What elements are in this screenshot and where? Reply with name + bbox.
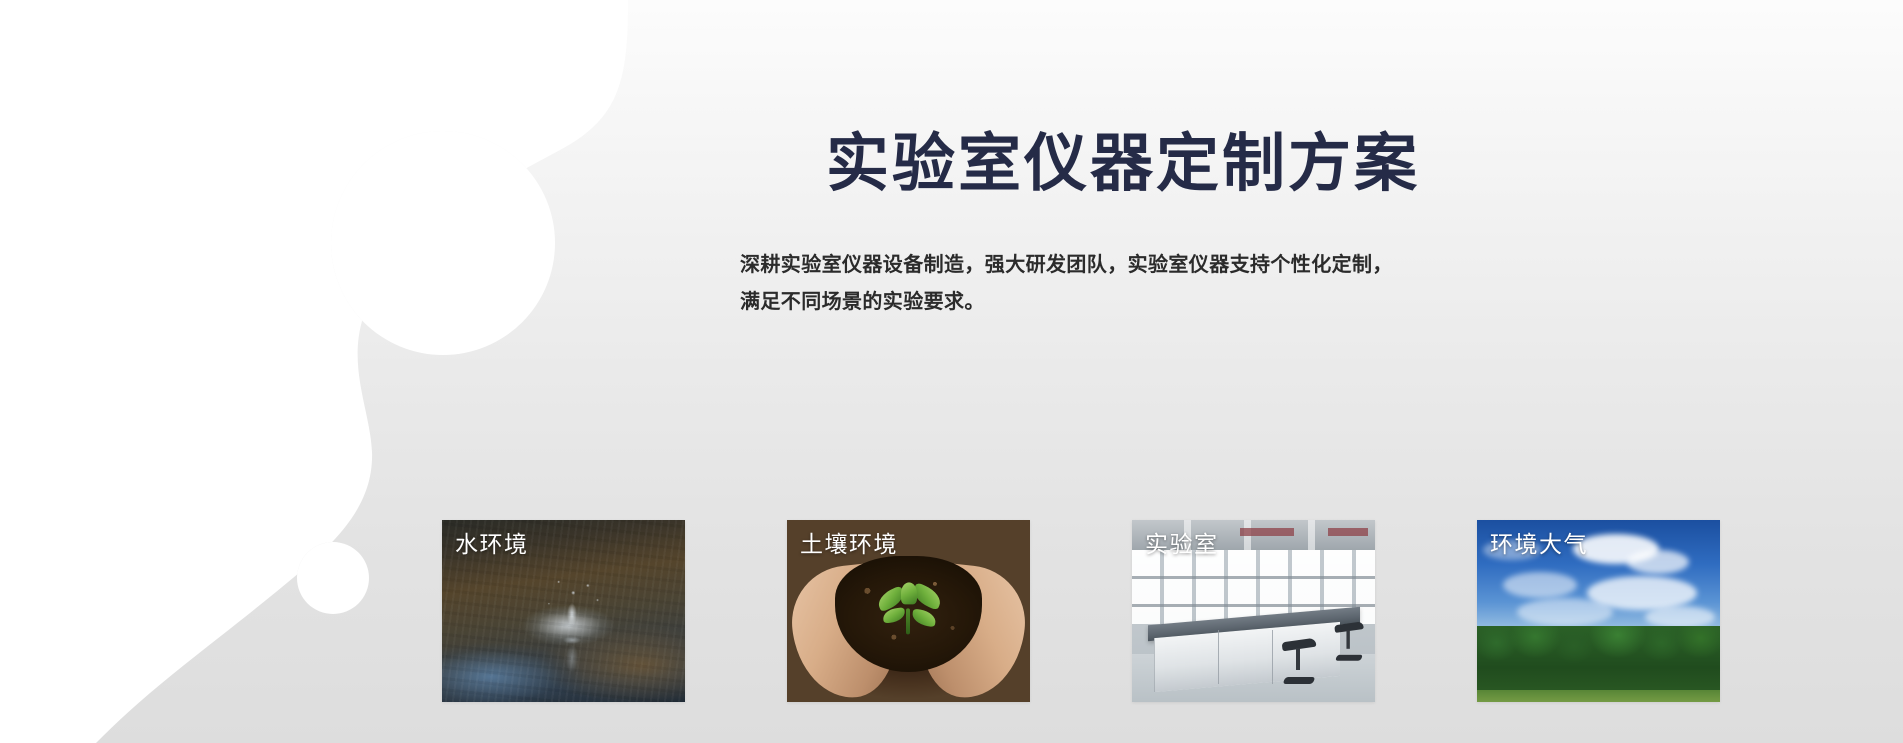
seedling-shape: [876, 583, 942, 639]
lab-bench-seam: [1218, 630, 1219, 684]
category-card-atmosphere[interactable]: 环境大气: [1477, 520, 1720, 702]
lab-red-accent: [1328, 528, 1368, 536]
stool-base: [1335, 655, 1363, 661]
meadow-strip: [1477, 690, 1720, 702]
category-card-label: 土壤环境: [800, 529, 898, 560]
stool-post: [1296, 648, 1300, 670]
subtitle-line-1: 深耕实验室仪器设备制造，强大研发团队，实验室仪器支持个性化定制，: [740, 247, 1540, 284]
seedling-leaf: [901, 583, 917, 605]
lab-bench-seam: [1272, 630, 1273, 684]
hero-subtitle: 深耕实验室仪器设备制造，强大研发团队，实验室仪器支持个性化定制， 满足不同场景的…: [740, 247, 1540, 321]
seedling-leaf: [910, 609, 936, 628]
subtitle-line-2: 满足不同场景的实验要求。: [740, 284, 1540, 321]
seedling-stem: [906, 609, 910, 635]
category-card-laboratory[interactable]: 实验室: [1132, 520, 1375, 702]
cloud-shape: [1645, 606, 1715, 628]
lab-shelf-line: [1132, 576, 1375, 579]
category-card-water[interactable]: 水环境: [442, 520, 685, 702]
lab-red-accent: [1240, 528, 1294, 536]
stool-base: [1283, 677, 1316, 684]
cloud-shape: [1503, 572, 1577, 598]
headline-block: 实验室仪器定制方案 深耕实验室仪器设备制造，强大研发团队，实验室仪器支持个性化定…: [740, 130, 1440, 321]
stool-post: [1346, 630, 1349, 649]
category-card-label: 实验室: [1145, 529, 1219, 560]
cloud-shape: [1627, 550, 1689, 574]
category-card-row: 水环境 土壤环境: [442, 520, 1720, 702]
category-card-label: 水环境: [455, 529, 529, 560]
lab-shelf-line: [1132, 604, 1375, 607]
page-title: 实验室仪器定制方案: [740, 130, 1420, 199]
hero-banner: 实验室仪器定制方案 深耕实验室仪器设备制造，强大研发团队，实验室仪器支持个性化定…: [0, 0, 1903, 743]
cloud-shape: [1517, 598, 1613, 626]
lab-ceiling-beam: [1244, 520, 1251, 554]
category-card-soil[interactable]: 土壤环境: [787, 520, 1030, 702]
lab-ceiling-beam: [1308, 520, 1315, 554]
lab-stool: [1335, 623, 1364, 660]
lab-stool: [1282, 640, 1316, 684]
category-card-label: 环境大气: [1490, 529, 1588, 560]
